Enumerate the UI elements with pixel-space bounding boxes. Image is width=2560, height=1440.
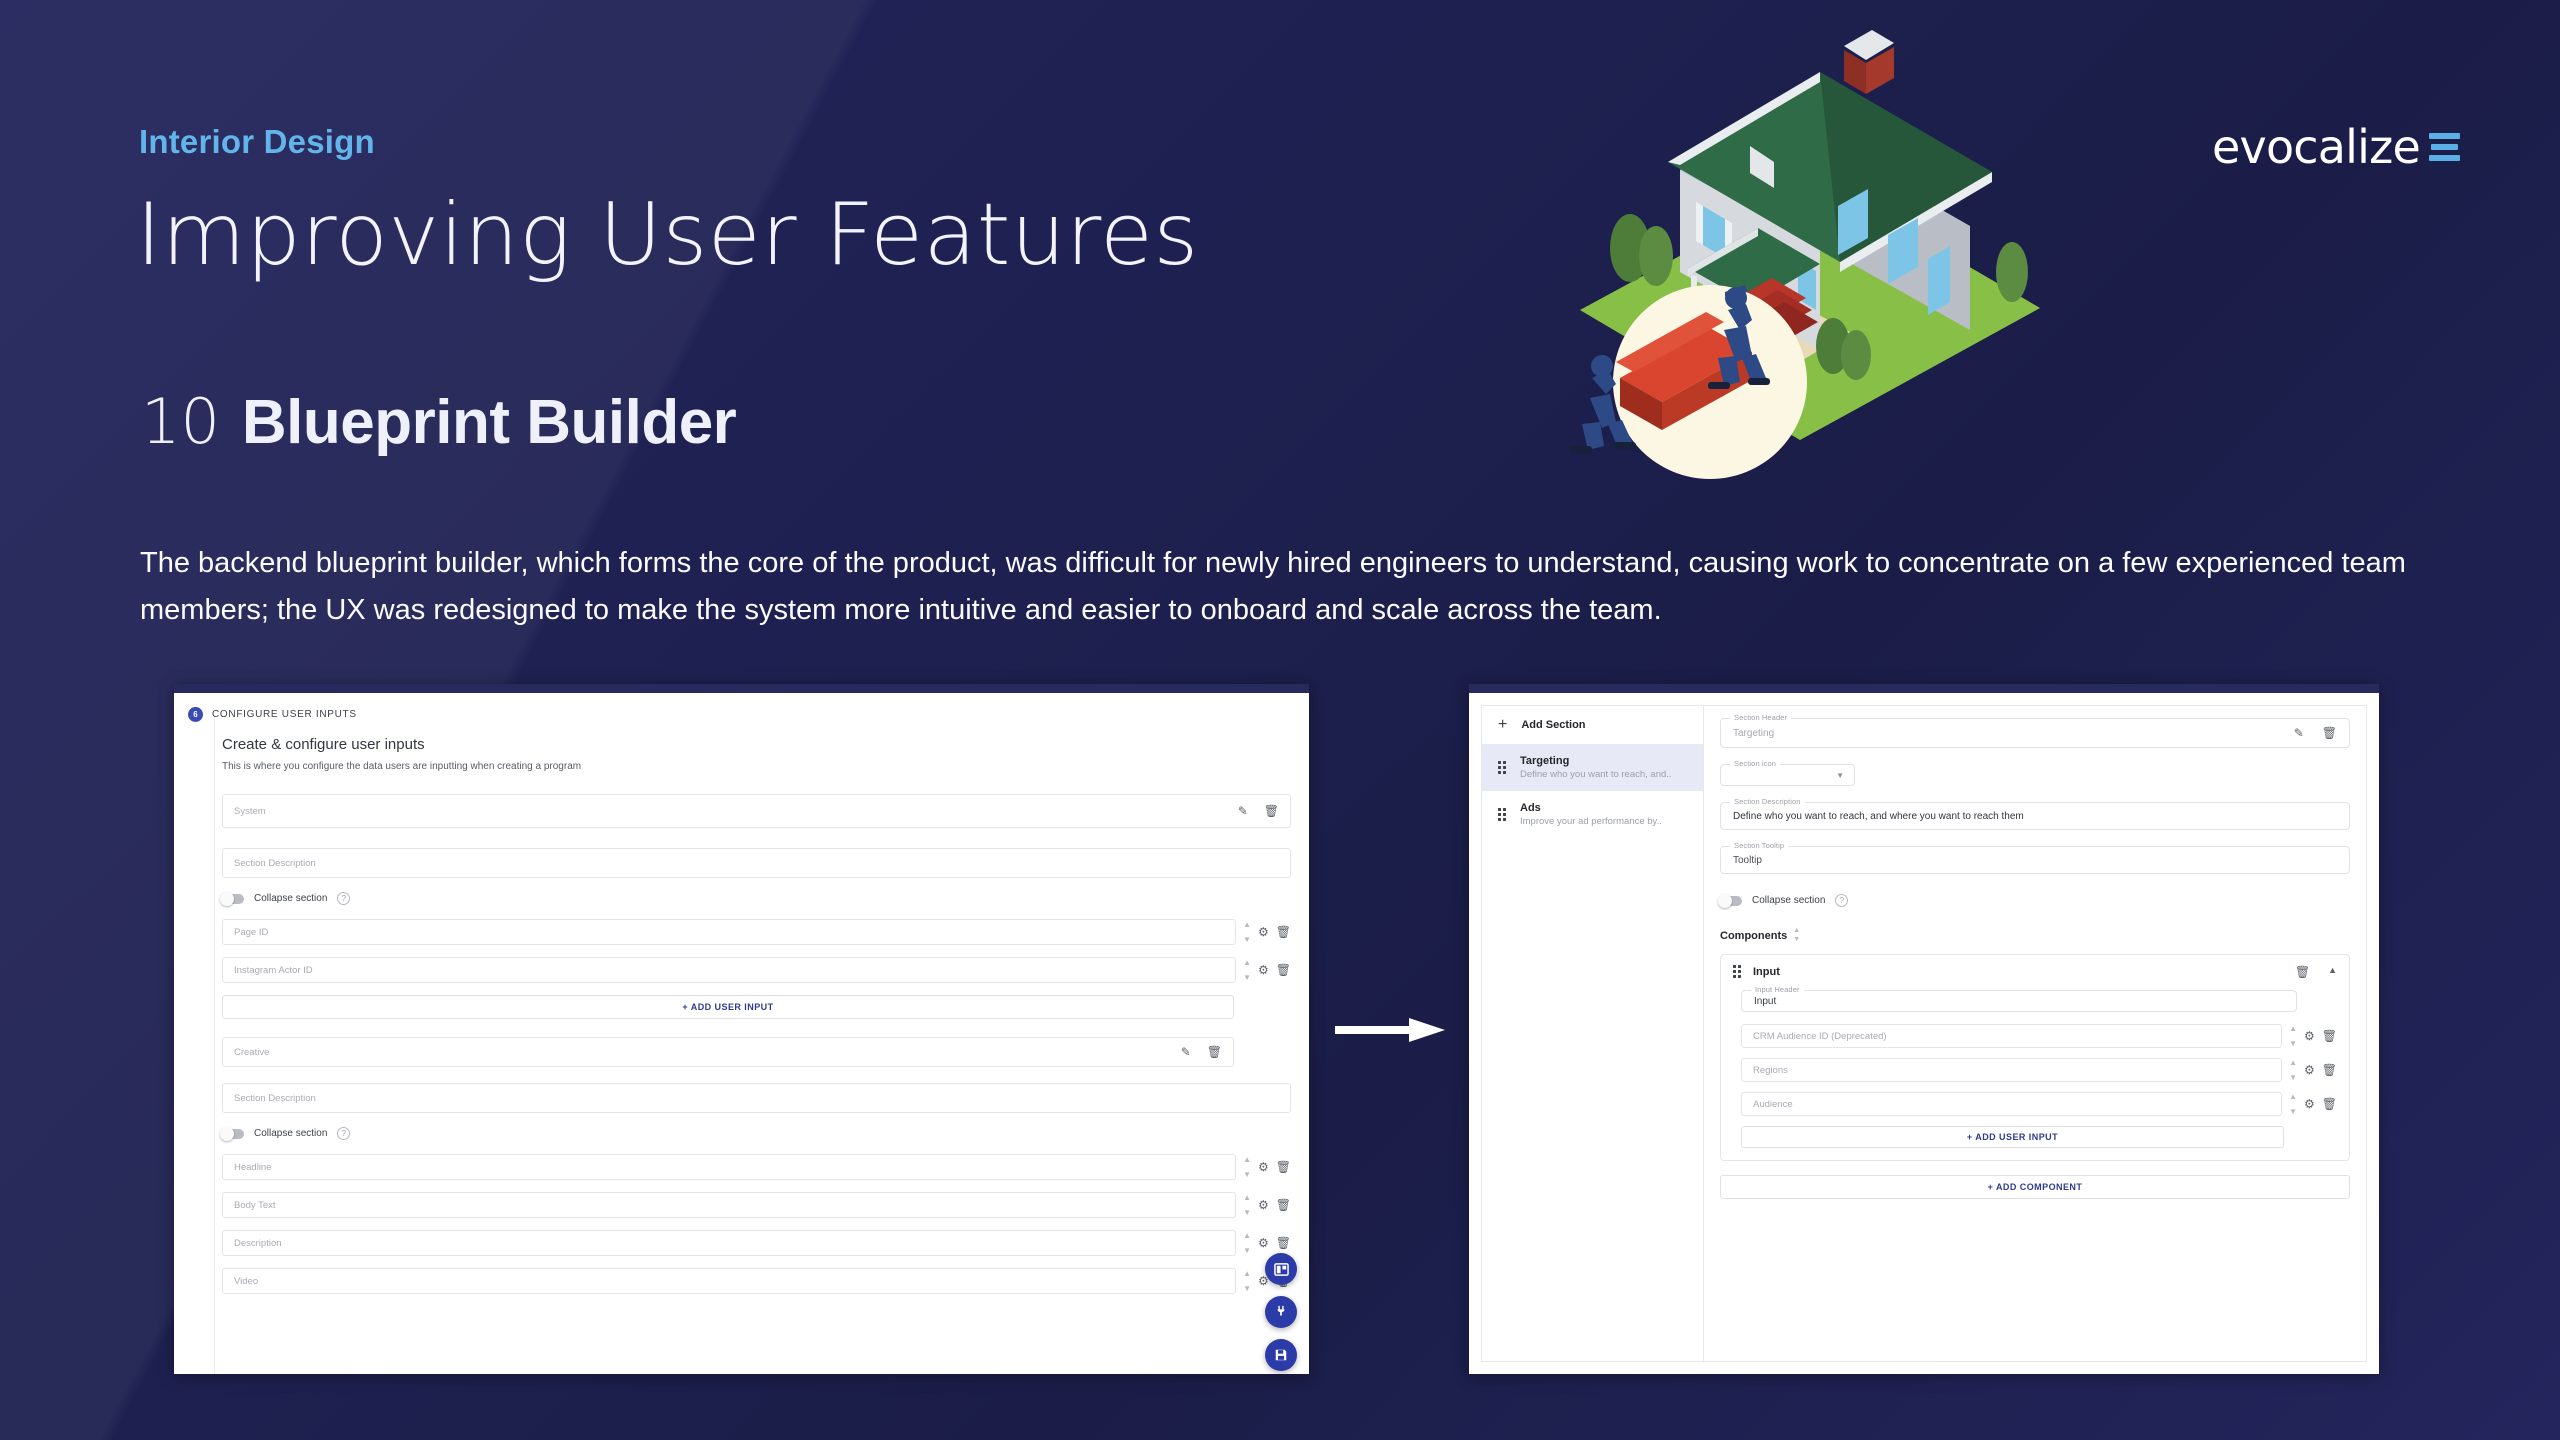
section-description-field[interactable]: Section Description Define who you want … <box>1720 802 2350 830</box>
trash-icon[interactable]: 🗑 <box>2322 727 2337 739</box>
section-description-placeholder-2: Section Description <box>234 1093 316 1104</box>
gear-icon[interactable]: ⚙ <box>1258 926 1269 938</box>
chevron-up-icon: ▲ <box>2289 1093 2297 1101</box>
chevron-up-icon: ▲ <box>1243 1270 1251 1278</box>
gear-icon[interactable]: ⚙ <box>2304 1030 2315 1042</box>
plus-icon: + <box>1498 717 1507 733</box>
page-title: Improving User Features <box>136 185 1199 285</box>
chevron-down-icon: ▼ <box>2289 1040 2297 1048</box>
component-input-placeholder: CRM Audience ID (Deprecated) <box>1753 1031 1887 1042</box>
sort-updown-icon[interactable]: ▲▼ <box>1793 927 1800 944</box>
save-floppy-icon[interactable] <box>1265 1339 1297 1371</box>
chevron-down-icon: ▼ <box>2289 1074 2297 1082</box>
component-input-field[interactable]: Audience <box>1741 1092 2282 1116</box>
gear-icon[interactable]: ⚙ <box>1258 1161 1269 1173</box>
breadcrumb-label: CONFIGURE USER INPUTS <box>212 709 357 720</box>
add-component-button[interactable]: + ADD COMPONENT <box>1720 1175 2350 1199</box>
logo-wordmark: evocalize <box>2212 120 2420 174</box>
question-circle-icon[interactable]: ? <box>337 892 350 905</box>
component-input-field[interactable]: CRM Audience ID (Deprecated) <box>1741 1024 2282 1048</box>
reorder-arrows[interactable]: ▲▼ <box>1243 1270 1251 1293</box>
isometric-house-with-movers-illustration <box>1520 10 2060 520</box>
section-description-field-2[interactable]: Section Description <box>222 1083 1291 1113</box>
reorder-arrows[interactable]: ▲▼ <box>2289 1059 2297 1082</box>
user-input-field[interactable]: Description <box>222 1230 1236 1256</box>
component-card-header[interactable]: Input 🗑 ▲ <box>1733 965 2337 978</box>
section-name-field[interactable]: System ✎ 🗑 <box>222 794 1291 828</box>
step-badge: 6 <box>188 707 203 722</box>
section-tooltip-label: Section Tooltip <box>1730 841 1788 850</box>
section-icon-select[interactable]: Section icon ▼ <box>1720 764 1855 786</box>
gear-icon[interactable]: ⚙ <box>2304 1098 2315 1110</box>
sidebar-item-targeting[interactable]: Targeting Define who you want to reach, … <box>1482 744 1703 791</box>
chevron-up-icon[interactable]: ▲ <box>2328 966 2337 978</box>
user-input-field[interactable]: Page ID <box>222 919 1236 945</box>
chevron-up-icon: ▲ <box>1243 1156 1251 1164</box>
user-input-row[interactable]: Video ▲▼ ⚙ 🗑 <box>222 1268 1291 1294</box>
trash-icon[interactable]: 🗑 <box>2295 966 2310 978</box>
user-input-field[interactable]: Body Text <box>222 1192 1236 1218</box>
collapse-section-toggle[interactable] <box>222 894 244 904</box>
section-icon-label: Section icon <box>1730 759 1780 768</box>
brand-logo: evocalize <box>2212 120 2460 174</box>
panel-heading: Create & configure user inputs <box>222 736 1291 753</box>
sidebar-item-name: Ads <box>1520 802 1662 814</box>
reorder-arrows[interactable]: ▲▼ <box>1243 1156 1251 1179</box>
trash-icon[interactable]: 🗑 <box>2322 1064 2337 1076</box>
user-input-row[interactable]: Description ▲▼ ⚙ 🗑 <box>222 1230 1291 1256</box>
component-input-row[interactable]: Audience ▲▼ ⚙ 🗑 <box>1741 1092 2337 1116</box>
collapse-section-label: Collapse section <box>254 893 327 904</box>
section-name-placeholder: System <box>234 806 266 817</box>
input-header-value: Input <box>1742 991 2296 1011</box>
drag-handle-icon[interactable] <box>1498 808 1506 821</box>
app-topbar <box>174 684 1309 693</box>
chevron-down-icon[interactable]: ▼ <box>1836 771 1844 780</box>
reorder-arrows[interactable]: ▲▼ <box>2289 1025 2297 1048</box>
trash-icon[interactable]: 🗑 <box>1276 1161 1291 1173</box>
panel-subheading: This is where you configure the data use… <box>222 761 1291 772</box>
user-input-placeholder: Body Text <box>234 1200 276 1211</box>
user-input-field[interactable]: Video <box>222 1268 1236 1294</box>
user-input-placeholder: Headline <box>234 1162 272 1173</box>
section-description-placeholder: Section Description <box>234 858 316 869</box>
stepper-rail <box>214 717 215 1374</box>
trash-icon[interactable]: 🗑 <box>1276 1237 1291 1249</box>
sections-sidebar: + Add Section Targeting Define who you w… <box>1481 705 1703 1362</box>
preview-panel-icon[interactable] <box>1265 1253 1297 1285</box>
section-header-field[interactable]: Section Header Targeting ✎ 🗑 <box>1720 718 2350 748</box>
gear-icon[interactable]: ⚙ <box>1258 964 1269 976</box>
chevron-up-icon: ▲ <box>1243 921 1251 929</box>
user-input-placeholder: Page ID <box>234 927 268 938</box>
input-header-label: Input Header <box>1751 985 1804 994</box>
user-input-field[interactable]: Headline <box>222 1154 1236 1180</box>
components-header: Components ▲▼ <box>1720 927 2350 944</box>
three-bars-icon <box>2429 133 2460 161</box>
chevron-up-icon: ▲ <box>2289 1059 2297 1067</box>
reorder-arrows[interactable]: ▲▼ <box>1243 1232 1251 1255</box>
user-input-row[interactable]: Body Text ▲▼ ⚙ 🗑 <box>222 1192 1291 1218</box>
after-screenshot: + Add Section Targeting Define who you w… <box>1469 684 2379 1374</box>
trash-icon[interactable]: 🗑 <box>1264 805 1279 817</box>
section-tooltip-value: Tooltip <box>1721 847 2349 873</box>
question-circle-icon[interactable]: ? <box>1835 894 1848 907</box>
gear-icon[interactable]: ⚙ <box>2304 1064 2315 1076</box>
input-header-field[interactable]: Input Header Input <box>1741 990 2297 1012</box>
trash-icon[interactable]: 🗑 <box>1207 1046 1222 1058</box>
section-number: 10 <box>141 385 220 458</box>
reorder-arrows[interactable]: ▲▼ <box>1243 921 1251 944</box>
section-editor-form: Section Header Targeting ✎ 🗑 Section ico… <box>1703 705 2367 1362</box>
user-input-field[interactable]: Instagram Actor ID <box>222 957 1236 983</box>
before-screenshot: 6 CONFIGURE USER INPUTS Create & configu… <box>174 684 1309 1374</box>
chevron-down-icon: ▼ <box>1243 936 1251 944</box>
collapse-section-row-2[interactable]: Collapse section ? <box>222 1127 1291 1140</box>
sidebar-item-ads[interactable]: Ads Improve your ad performance by.. <box>1482 791 1703 838</box>
component-input-placeholder: Audience <box>1753 1099 1793 1110</box>
sidebar-item-name: Targeting <box>1520 755 1672 767</box>
chevron-down-icon: ▼ <box>1243 1209 1251 1217</box>
component-input-placeholder: Regions <box>1753 1065 1788 1076</box>
section-title: Blueprint Builder <box>242 387 736 458</box>
pencil-icon[interactable]: ✎ <box>1238 805 1248 817</box>
chevron-up-icon: ▲ <box>1243 1194 1251 1202</box>
trash-icon[interactable]: 🗑 <box>1276 964 1291 976</box>
plug-icon[interactable] <box>1265 1296 1297 1328</box>
section-header-label: Section Header <box>1730 713 1791 722</box>
collapse-section-toggle-2[interactable] <box>222 1129 244 1139</box>
chevron-down-icon: ▼ <box>1243 1247 1251 1255</box>
chevron-up-icon: ▲ <box>2289 1025 2297 1033</box>
sidebar-item-description: Define who you want to reach, and.. <box>1520 769 1672 780</box>
component-input-field[interactable]: Regions <box>1741 1058 2282 1082</box>
component-input-row[interactable]: Regions ▲▼ ⚙ 🗑 <box>1741 1058 2337 1082</box>
sidebar-item-description: Improve your ad performance by.. <box>1520 816 1662 827</box>
collapse-section-label-2: Collapse section <box>254 1128 327 1139</box>
pencil-icon[interactable]: ✎ <box>2294 727 2304 739</box>
breadcrumb: 6 CONFIGURE USER INPUTS <box>174 707 1309 722</box>
section-name-field-2[interactable]: Creative ✎ 🗑 <box>222 1037 1234 1067</box>
trash-icon[interactable]: 🗑 <box>2322 1098 2337 1110</box>
add-section-button[interactable]: + Add Section <box>1482 706 1703 744</box>
eyebrow-label: Interior Design <box>139 123 375 161</box>
collapse-section-row[interactable]: Collapse section ? <box>222 892 1291 905</box>
section-description-value: Define who you want to reach, and where … <box>1721 803 2349 829</box>
body-paragraph: The backend blueprint builder, which for… <box>140 540 2430 634</box>
chevron-down-icon: ▼ <box>2289 1108 2297 1116</box>
chevron-up-icon: ▲ <box>1243 1232 1251 1240</box>
component-card: Input 🗑 ▲ Input Header Input CRM Au <box>1720 954 2350 1161</box>
gear-icon[interactable]: ⚙ <box>1258 1237 1269 1249</box>
trash-icon[interactable]: 🗑 <box>2322 1030 2337 1042</box>
arrow-right-icon <box>1335 1018 1445 1042</box>
chevron-up-icon: ▲ <box>1243 959 1251 967</box>
slide: Interior Design Improving User Features … <box>0 0 2560 1440</box>
question-circle-icon[interactable]: ? <box>337 1127 350 1140</box>
chevron-down-icon: ▼ <box>1243 974 1251 982</box>
chevron-down-icon: ▼ <box>1243 1171 1251 1179</box>
app-topbar <box>1469 684 2379 693</box>
gear-icon[interactable]: ⚙ <box>1258 1199 1269 1211</box>
user-input-row[interactable]: Headline ▲▼ ⚙ 🗑 <box>222 1154 1291 1180</box>
trash-icon[interactable]: 🗑 <box>1276 926 1291 938</box>
pencil-icon[interactable]: ✎ <box>1181 1046 1191 1058</box>
chevron-down-icon: ▼ <box>1243 1285 1251 1293</box>
component-input-row[interactable]: CRM Audience ID (Deprecated) ▲▼ ⚙ 🗑 <box>1741 1024 2337 1048</box>
component-title: Input <box>1753 966 1780 978</box>
collapse-section-row[interactable]: Collapse section ? <box>1720 894 2350 907</box>
add-section-label: Add Section <box>1521 719 1585 731</box>
components-label: Components <box>1720 930 1787 942</box>
floating-action-buttons[interactable] <box>1265 1253 1297 1371</box>
user-input-placeholder: Description <box>234 1238 282 1249</box>
section-tooltip-field[interactable]: Section Tooltip Tooltip <box>1720 846 2350 874</box>
section-name-placeholder-2: Creative <box>234 1047 269 1058</box>
user-input-placeholder: Instagram Actor ID <box>234 965 313 976</box>
drag-handle-icon[interactable] <box>1733 965 1741 978</box>
user-input-row[interactable]: Instagram Actor ID ▲▼ ⚙ 🗑 <box>222 957 1291 983</box>
user-input-row[interactable]: Page ID ▲▼ ⚙ 🗑 <box>222 919 1291 945</box>
reorder-arrows[interactable]: ▲▼ <box>1243 1194 1251 1217</box>
reorder-arrows[interactable]: ▲▼ <box>2289 1093 2297 1116</box>
drag-handle-icon[interactable] <box>1498 761 1506 774</box>
section-header-value: Targeting <box>1733 728 1774 739</box>
add-user-input-button[interactable]: + ADD USER INPUT <box>1741 1126 2284 1148</box>
section-description-label: Section Description <box>1730 797 1805 806</box>
collapse-section-label: Collapse section <box>1752 895 1825 906</box>
add-user-input-button[interactable]: + ADD USER INPUT <box>222 995 1234 1019</box>
reorder-arrows[interactable]: ▲▼ <box>1243 959 1251 982</box>
user-input-placeholder: Video <box>234 1276 258 1287</box>
section-heading: 10 Blueprint Builder <box>141 385 736 458</box>
collapse-section-toggle[interactable] <box>1720 896 1742 906</box>
section-description-field[interactable]: Section Description <box>222 848 1291 878</box>
trash-icon[interactable]: 🗑 <box>1276 1199 1291 1211</box>
